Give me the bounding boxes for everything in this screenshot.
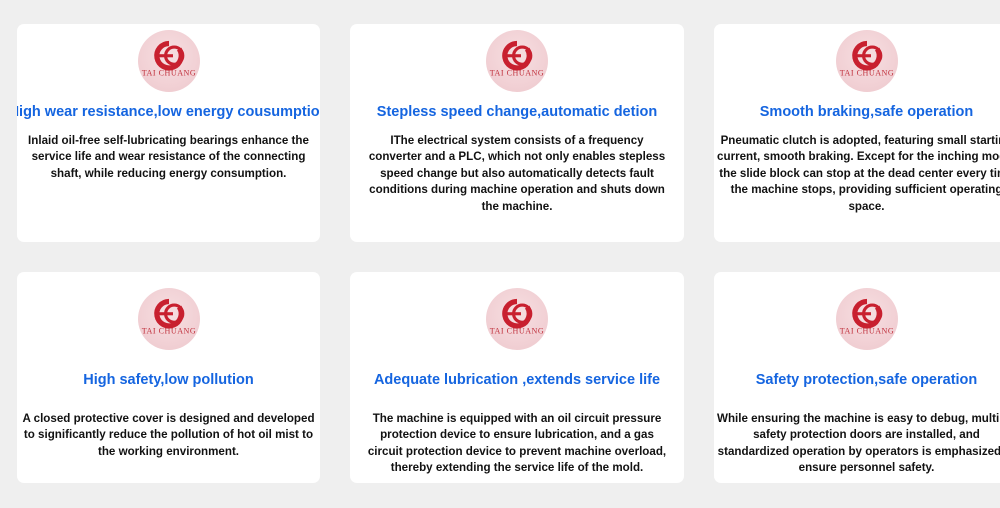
card-title: High wear resistance,low energy cousumpt… [17,104,320,121]
taichuang-circle-logo-icon: TAI CHUANG [836,30,898,92]
logo-wordmark: TAI CHUANG [839,69,893,78]
feature-card-adequate-lubrication[interactable]: TAI CHUANG Adequate lubrication ,extends… [350,272,684,483]
feature-card-smooth-braking[interactable]: TAI CHUANG Smooth braking,safe operation… [714,24,1000,242]
card-title: Smooth braking,safe operation [760,104,974,121]
logo-wordmark: TAI CHUANG [490,327,544,336]
logo-wordmark: TAI CHUANG [490,69,544,78]
feature-card-high-safety[interactable]: TAI CHUANG High safety,low pollution A c… [17,272,320,483]
card-body: Pneumatic clutch is adopted, featuring s… [716,133,1000,216]
card-title: Stepless speed change,automatic detion [377,104,657,121]
feature-card-grid: TAI CHUANG High wear resistance,low ener… [0,0,1000,508]
card-title: Safety protection,safe operation [756,372,978,389]
card-body: Inlaid oil-free self-lubricating bearing… [28,133,310,183]
taichuang-circle-logo-icon: TAI CHUANG [486,288,548,350]
logo-wordmark: TAI CHUANG [141,69,195,78]
card-title: Adequate lubrication ,extends service li… [374,372,660,389]
card-body: The machine is equipped with an oil circ… [367,411,667,477]
logo-wordmark: TAI CHUANG [839,327,893,336]
feature-card-stepless-speed-change[interactable]: TAI CHUANG Stepless speed change,automat… [350,24,684,242]
logo-wordmark: TAI CHUANG [141,327,195,336]
feature-card-high-wear-resistance[interactable]: TAI CHUANG High wear resistance,low ener… [17,24,320,242]
card-body: A closed protective cover is designed an… [17,411,320,461]
feature-card-safety-protection[interactable]: TAI CHUANG Safety protection,safe operat… [714,272,1000,483]
card-body: IThe electrical system consists of a fre… [367,133,667,216]
taichuang-circle-logo-icon: TAI CHUANG [486,30,548,92]
taichuang-circle-logo-icon: TAI CHUANG [138,30,200,92]
taichuang-circle-logo-icon: TAI CHUANG [836,288,898,350]
card-body: While ensuring the machine is easy to de… [716,411,1000,477]
taichuang-circle-logo-icon: TAI CHUANG [138,288,200,350]
card-title: High safety,low pollution [83,372,254,389]
